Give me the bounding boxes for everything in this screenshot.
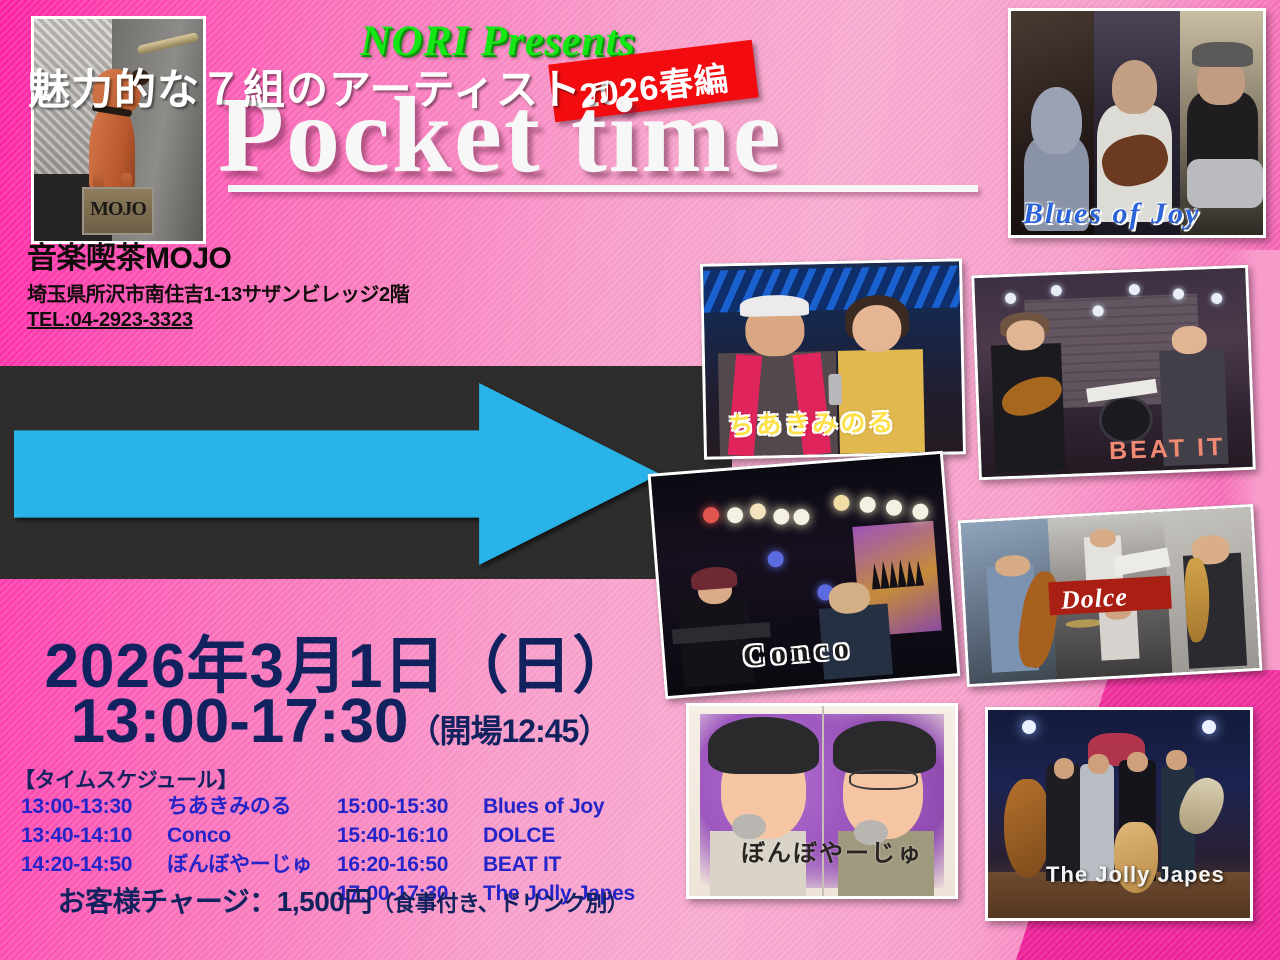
schedule-row: 16:20-16:50BEAT IT — [337, 851, 635, 880]
band-photo-beat-it: BEAT IT — [971, 265, 1256, 480]
schedule-heading: 【タイムスケジュール】 — [14, 769, 238, 792]
double-bass-icon — [1004, 779, 1051, 879]
stage-light-icon — [1050, 285, 1061, 296]
event-time-range: 13:00-17:30 — [71, 687, 409, 756]
band-photo-bonvoyage: ぼんぼやーじゅ — [686, 703, 958, 899]
schedule-time: 14:20-14:50 — [21, 851, 167, 880]
illustrated-hair — [833, 721, 937, 774]
glasses-icon — [849, 769, 918, 790]
schedule-row: 13:40-14:10Conco — [21, 822, 312, 851]
schedule-row: 15:00-15:30Blues of Joy — [337, 793, 635, 822]
band-name-caption: Dolce — [1060, 582, 1129, 616]
musician-head — [1166, 750, 1187, 771]
schedule-time: 15:00-15:30 — [337, 793, 483, 822]
band-photo-conco: Conco — [648, 451, 961, 700]
schedule-time: 13:00-13:30 — [21, 793, 167, 822]
event-time: 13:00-17:30（開場12:45） — [0, 686, 680, 757]
schedule-artist: Conco — [167, 824, 231, 847]
venue-name: 音楽喫茶MOJO — [27, 243, 497, 275]
charge-amount: お客様チャージ：1,500円 — [58, 886, 372, 917]
charge-note: （食事付き、ドリンク別） — [372, 891, 628, 916]
schedule-column-left: 13:00-13:30ちあきみのる 13:40-14:10Conco 14:20… — [21, 793, 312, 880]
schedule-artist: DOLCE — [483, 824, 555, 847]
band-photo-blues-of-joy: Blues of Joy — [1008, 8, 1266, 238]
event-flyer: MOJO 音楽喫茶MOJO 埼玉県所沢市南住吉1-13サザンビレッジ2階 TEL… — [0, 0, 1280, 960]
schedule-row: 14:20-14:50ぼんぼやーじゅ — [21, 851, 312, 880]
musician-head — [1112, 60, 1157, 114]
schedule-row: 13:00-13:30ちあきみのる — [21, 793, 312, 822]
hat-icon — [1192, 42, 1252, 67]
band-name-caption: ちあきみのる — [728, 403, 897, 443]
band-name-caption: ぼんぼやーじゅ — [741, 833, 923, 868]
venue-address: 埼玉県所沢市南住吉1-13サザンビレッジ2階 — [27, 278, 497, 307]
band-name-caption: The Jolly Japes — [1046, 862, 1225, 888]
band-photo-the-jolly-japes: The Jolly Japes — [985, 707, 1253, 921]
cap-icon — [739, 295, 809, 317]
stage-light-icon — [1211, 293, 1222, 304]
arrow-banner — [14, 383, 660, 565]
venue-phone[interactable]: TEL:04-2923-3323 — [27, 309, 193, 332]
illustrated-hair — [708, 717, 820, 774]
mojo-pedestal: MOJO — [82, 187, 154, 235]
event-door-time: （開場12:45） — [408, 713, 609, 749]
musician-head — [1031, 87, 1081, 154]
schedule-artist: BEAT IT — [483, 853, 561, 876]
schedule-artist: Blues of Joy — [483, 795, 604, 818]
schedule-time: 15:40-16:10 — [337, 822, 483, 851]
musician-head — [1171, 325, 1207, 354]
schedule-artist: ちあきみのる — [167, 795, 291, 818]
venue-info: 音楽喫茶MOJO 埼玉県所沢市南住吉1-13サザンビレッジ2階 TEL:04-2… — [27, 243, 497, 332]
stage-light-icon — [1173, 288, 1184, 299]
schedule-time: 16:20-16:50 — [337, 851, 483, 880]
schedule-row: 15:40-16:10DOLCE — [337, 822, 635, 851]
musician-head — [1006, 319, 1045, 350]
band-photo-chiaki-minoru: ちあきみのる — [700, 258, 966, 459]
schedule-time: 13:40-14:10 — [21, 822, 167, 851]
charge-info: お客様チャージ：1,500円（食事付き、ドリンク別） — [0, 880, 686, 920]
microphone-icon — [828, 374, 841, 405]
mojo-pedestal-label: MOJO — [84, 198, 152, 221]
arrow-right-icon — [14, 383, 660, 565]
band-photo-dolce: Dolce — [958, 504, 1263, 687]
venue-photo: MOJO — [31, 16, 206, 244]
schedule-artist: ぼんぼやーじゅ — [167, 853, 312, 876]
musician-head — [1088, 754, 1109, 775]
stage-light-icon — [1092, 305, 1103, 316]
stage-light-icon — [1005, 293, 1016, 304]
band-name-caption: Blues of Joy — [1023, 197, 1200, 231]
time-schedule: 【タイムスケジュール】 13:00-13:30ちあきみのる 13:40-14:1… — [14, 764, 674, 793]
arrow-banner-text: 魅力的な７組のアーティスト♬ — [28, 56, 588, 117]
title-underline — [228, 185, 978, 192]
musician-head — [1054, 758, 1075, 779]
band-name-caption: BEAT IT — [1108, 433, 1225, 466]
musician-head — [1127, 752, 1148, 773]
